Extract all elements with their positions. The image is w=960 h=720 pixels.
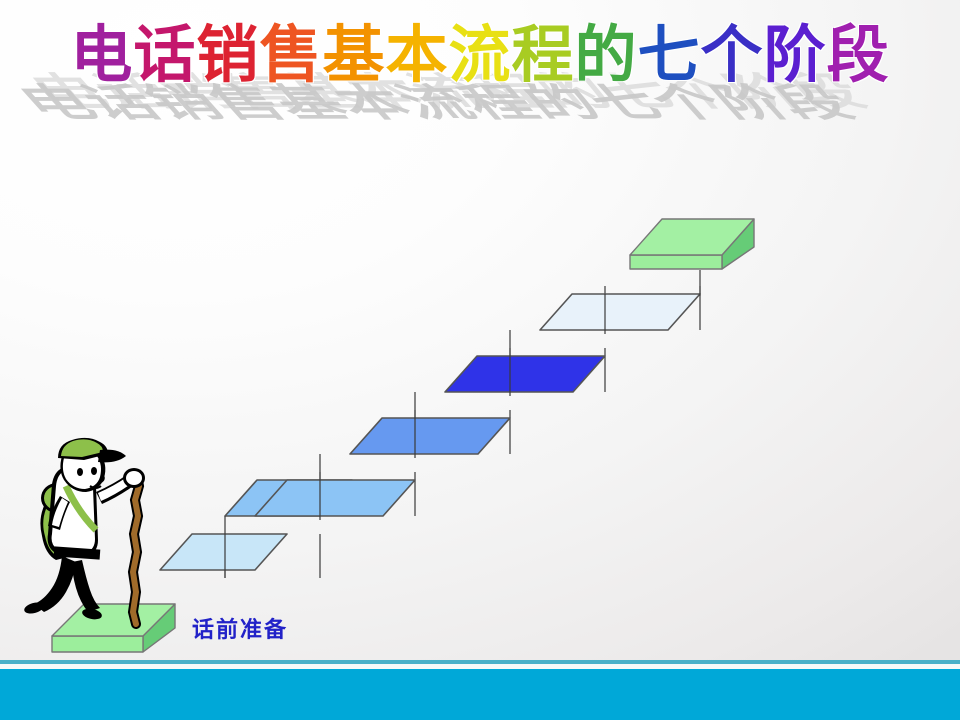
hiker-character [23,438,145,624]
step-label-stage-1: 话前准备 [192,612,288,644]
step-tread-stage-2 [160,534,287,570]
step-tread-stage-4 [350,418,510,454]
top-platform-stage-7 [630,219,754,269]
step-tread-stage-5 [445,356,605,392]
slide-canvas: 电话销售基本流程的七个阶段 电话销售基本流程的七个阶段 电话销售基本流程的七个阶… [0,0,960,720]
bottom-platform-stage-1 [52,604,175,652]
step-tread-stage-6 [540,294,700,330]
footer-bar [0,669,960,720]
staircase-diagram [0,0,960,720]
